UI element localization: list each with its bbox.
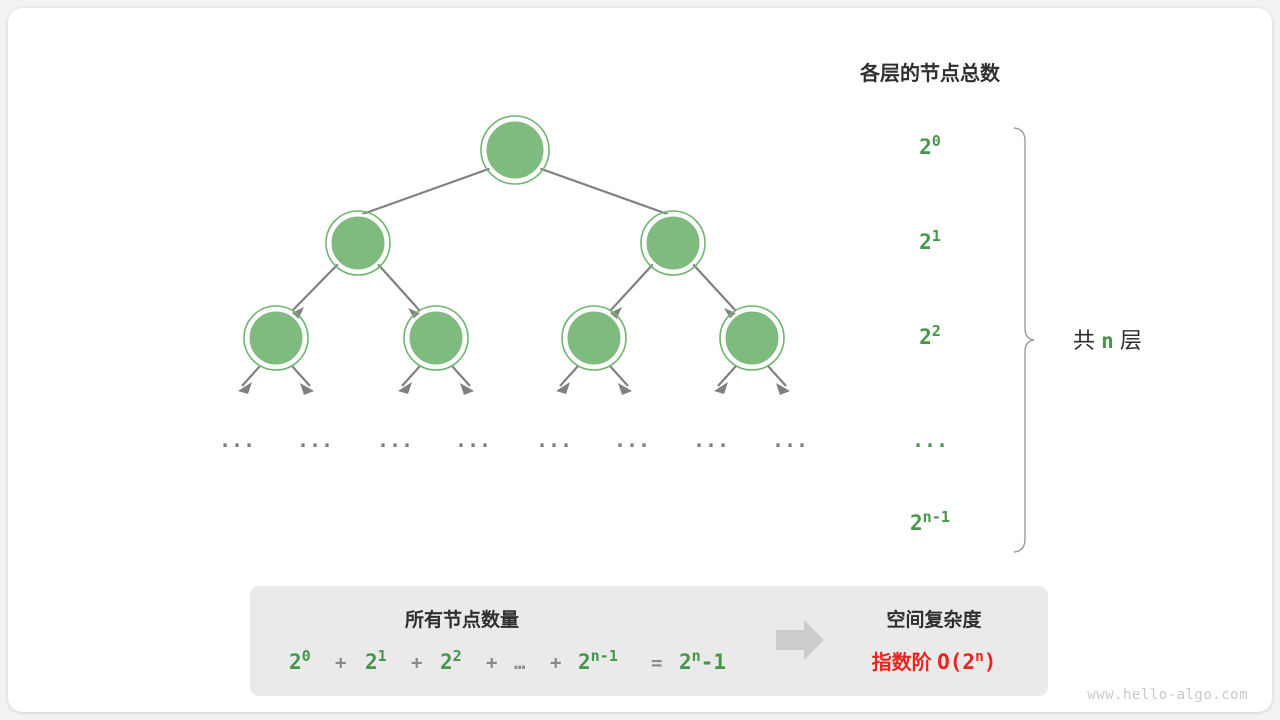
levels-title: 各层的节点总数 [859, 61, 1001, 85]
brace-label-prefix: 共 [1073, 328, 1095, 353]
formula-op-5: + [486, 652, 497, 674]
edge-l1right-to-c3 [610, 262, 655, 311]
level-label-0-base: 2 [919, 135, 932, 159]
formula-ellipsis: … [514, 652, 525, 674]
formula-op-3: + [411, 652, 422, 674]
binary-tree-space-complexity-figure: ... ... ... ... ... ... ... ... 各层的节点总数 … [8, 8, 1272, 712]
brace-label: 共 n 层 [1073, 328, 1142, 353]
tree-dots-4: ... [455, 428, 491, 452]
tree-node-l2-1[interactable] [244, 306, 308, 370]
level-count-labels: 20 21 22 ... 2n-1 [910, 132, 950, 535]
diagram-canvas: ... ... ... ... ... ... ... ... 各层的节点总数 … [0, 0, 1280, 720]
complexity-notation-exp: n [975, 649, 984, 665]
edge-root-to-left [346, 166, 497, 220]
levels-brace [1014, 128, 1034, 552]
tree-node-root[interactable] [481, 116, 549, 184]
level-label-0-exp: 0 [932, 132, 941, 150]
brace-label-variable: n [1101, 329, 1114, 353]
level-label-1-base: 2 [919, 230, 932, 254]
tree-dots-8: ... [772, 428, 808, 452]
complexity-notation-base: O(2 [937, 650, 975, 674]
level-label-2-base: 2 [919, 325, 932, 349]
tree-bottom-ellipsis-row: ... ... ... ... ... ... ... ... [219, 428, 808, 452]
edge-l1left-to-c2 [376, 262, 420, 311]
level-label-last-exp: n-1 [923, 508, 950, 526]
complexity-notation-close: ) [984, 650, 997, 674]
complexity-title: 空间复杂度 [886, 608, 982, 631]
level-label-ellipsis: ... [912, 428, 948, 452]
tree-edges [238, 166, 790, 395]
level-label-0: 20 [919, 132, 941, 159]
formula-op-1: + [335, 652, 346, 674]
tree-dots-6: ... [614, 428, 650, 452]
formula-equals: = [651, 652, 662, 674]
summary-box [250, 586, 1048, 696]
tree-dots-1: ... [219, 428, 255, 452]
dangling-edges [238, 366, 790, 395]
tree-dots-5: ... [536, 428, 572, 452]
level-label-1: 21 [919, 227, 941, 254]
level-label-last: 2n-1 [910, 508, 950, 535]
tree-dots-7: ... [693, 428, 729, 452]
complexity-order-label: 指数阶 [872, 650, 933, 674]
tree-dots-3: ... [377, 428, 413, 452]
formula-op-7: + [550, 652, 561, 674]
tree-node-l1-left[interactable] [326, 211, 390, 275]
tree-nodes [244, 116, 784, 370]
total-nodes-title: 所有节点数量 [405, 608, 519, 631]
edge-l1right-to-c4 [691, 262, 736, 311]
tree-node-l1-right[interactable] [641, 211, 705, 275]
level-label-2-exp: 2 [932, 322, 941, 340]
tree-node-l2-2[interactable] [404, 306, 468, 370]
watermark: www.hello-algo.com [1087, 687, 1248, 703]
tree-dots-2: ... [297, 428, 333, 452]
tree-node-l2-4[interactable] [720, 306, 784, 370]
diagram-card: ... ... ... ... ... ... ... ... 各层的节点总数 … [8, 8, 1272, 712]
brace-label-suffix: 层 [1120, 328, 1142, 353]
level-label-2: 22 [919, 322, 941, 349]
edge-root-to-right [533, 166, 684, 220]
formula-result: 2n-1 [679, 647, 726, 674]
level-label-last-base: 2 [910, 511, 923, 535]
edge-l1left-to-c1 [292, 262, 340, 311]
level-label-1-exp: 1 [932, 227, 941, 245]
tree-node-l2-3[interactable] [562, 306, 626, 370]
